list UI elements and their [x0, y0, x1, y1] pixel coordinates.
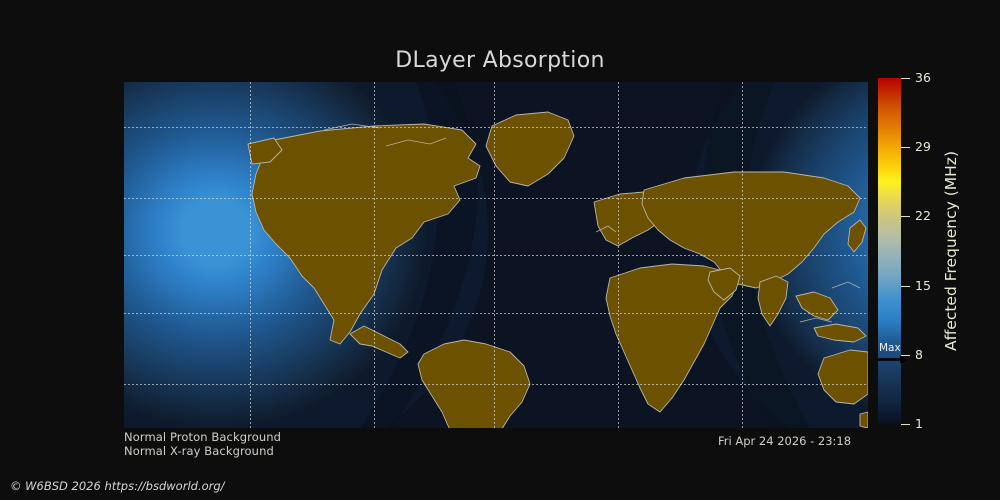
colorbar-tick-label: 22 [915, 210, 931, 223]
app-root: DLayer Absorption [0, 0, 1000, 500]
colorbar-tick-mark [901, 78, 910, 79]
timestamp: Fri Apr 24 2026 - 23:18 [718, 434, 851, 448]
colorbar-tick-mark [901, 147, 910, 148]
world-map[interactable] [124, 82, 868, 428]
colorbar-tick-mark [901, 424, 910, 425]
page-title: DLayer Absorption [0, 48, 1000, 73]
proton-status: Normal Proton Background [124, 430, 281, 444]
colorbar-tick-label: 29 [915, 141, 931, 154]
max-arrow-icon [878, 355, 908, 364]
absorption-map-canvas [124, 82, 868, 428]
colorbar-max-marker: Max [878, 344, 934, 366]
colorbar-tick-label: 1 [915, 418, 923, 431]
copyright-footer: © W6BSD 2026 https://bsdworld.org/ [10, 479, 225, 493]
xray-status: Normal X-ray Background [124, 444, 274, 458]
colorbar-tick-mark [901, 216, 910, 217]
max-marker-label: Max [879, 343, 901, 354]
colorbar-tick-label: 36 [915, 72, 931, 85]
colorbar-title-text: Affected Frequency (MHz) [942, 151, 960, 351]
colorbar-gradient [878, 78, 901, 424]
colorbar[interactable] [878, 78, 901, 424]
colorbar-tick-mark [901, 286, 910, 287]
colorbar-tick-label: 15 [915, 279, 931, 292]
colorbar-title: Affected Frequency (MHz) [939, 78, 963, 424]
